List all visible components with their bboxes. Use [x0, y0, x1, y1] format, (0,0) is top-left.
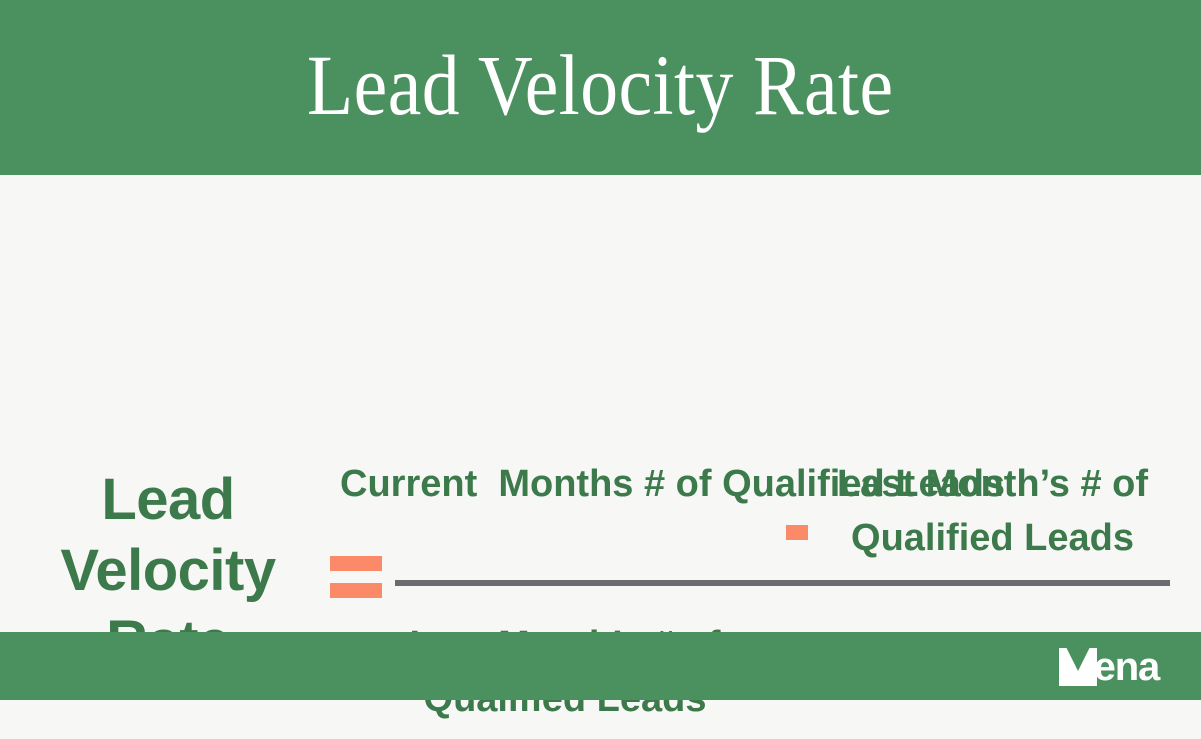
formula-area: Lead Velocity Rate Current Months # of Q… — [0, 175, 1201, 632]
page-title: Lead Velocity Rate — [307, 42, 894, 134]
numerator-left-term: Current Months # of Qualified Leads — [340, 458, 760, 512]
fraction-bar — [395, 580, 1170, 586]
infographic-canvas: Lead Velocity Rate Lead Velocity Rate Cu… — [0, 0, 1201, 700]
numerator-right-term: Last Month’s # of Qualified Leads — [805, 458, 1180, 566]
equals-icon-bar-bottom — [330, 583, 382, 598]
formula-numerator: Current Months # of Qualified Leads Last… — [340, 458, 1180, 570]
vena-logo: ena — [1059, 646, 1159, 688]
vena-v-mark-icon — [1059, 648, 1097, 686]
header-band: Lead Velocity Rate — [0, 0, 1201, 175]
footer-band: ena — [0, 632, 1201, 700]
vena-wordmark: ena — [1094, 648, 1159, 686]
